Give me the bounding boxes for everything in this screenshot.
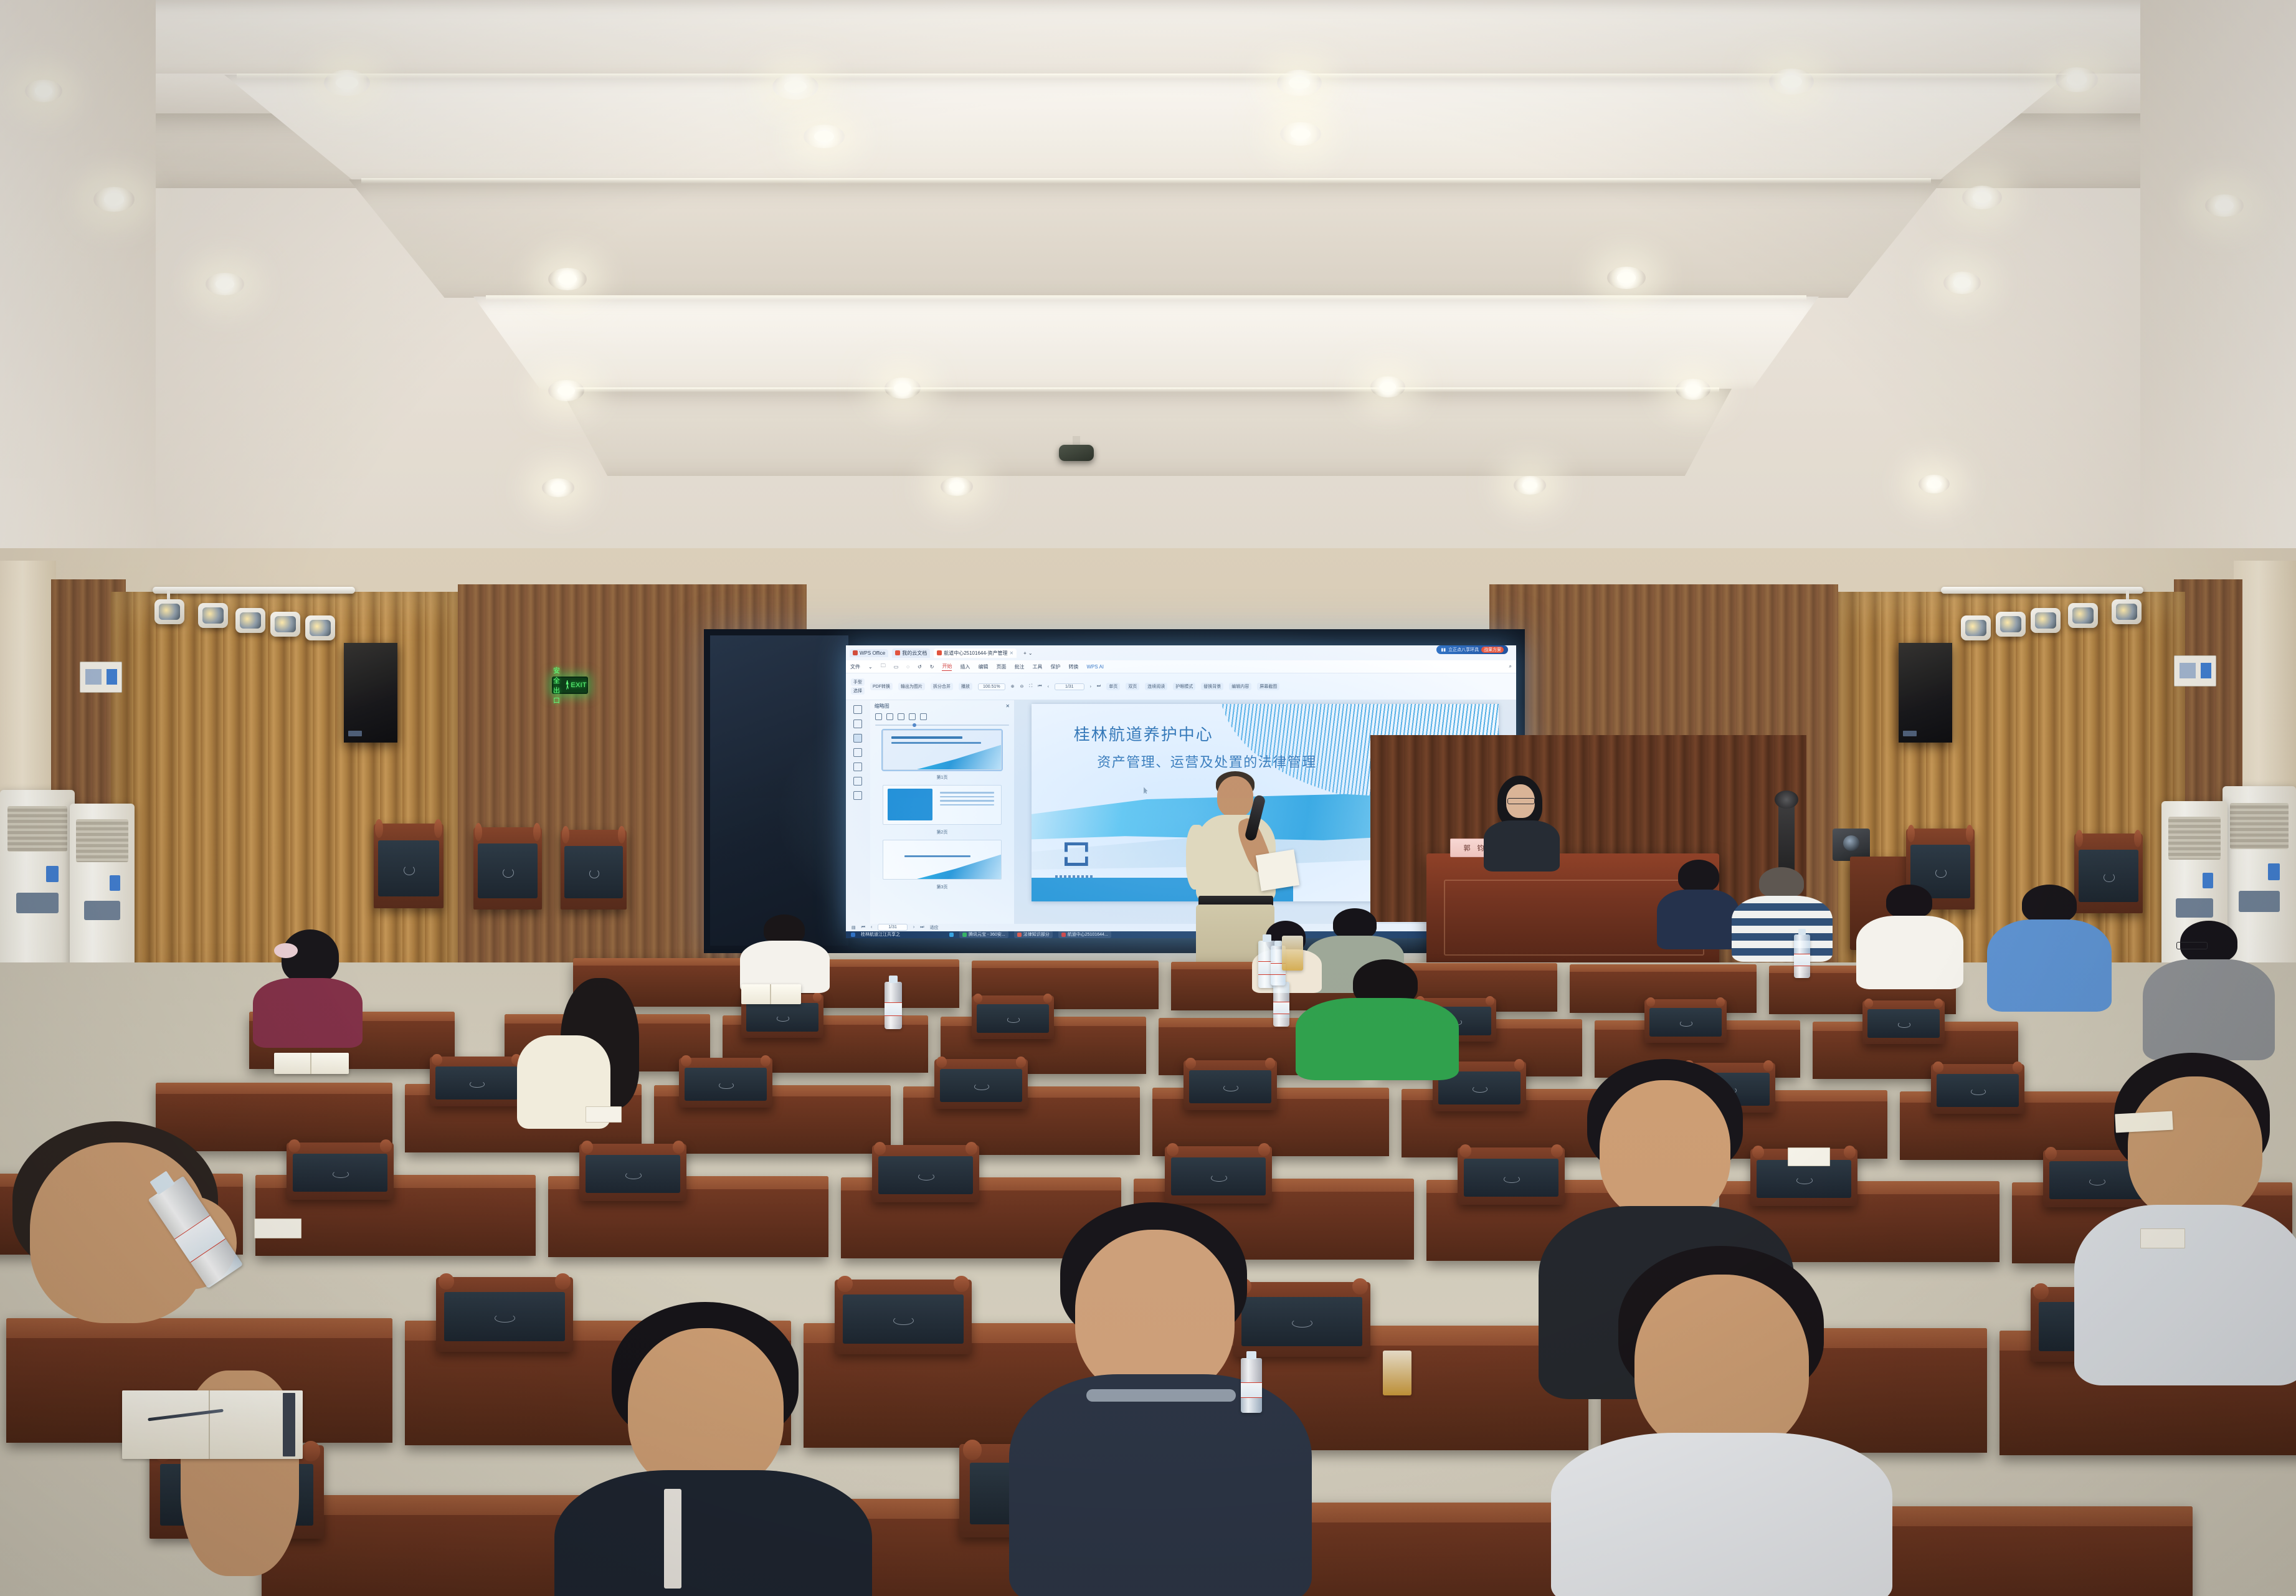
par-light xyxy=(2031,608,2061,633)
person-attendee-white-mid xyxy=(735,914,835,989)
head xyxy=(628,1328,784,1491)
print-icon[interactable]: ◌ xyxy=(906,664,909,670)
wps-menu-bar[interactable]: 文件 ⌄ 🗀 ▭ ◌ ↺ ↻ 开始 插入 编辑 页面 批注 工具 保护 转换 W… xyxy=(846,660,1516,673)
wps-logo-icon xyxy=(853,650,858,655)
ceiling-downlight xyxy=(25,80,62,102)
hair xyxy=(1678,860,1719,892)
single-page-button[interactable]: 单页 xyxy=(1106,683,1120,690)
wall-speaker-right xyxy=(1899,643,1952,743)
thumbnail-panel[interactable]: 缩略图 ✕ 第1页 第2页 第3页 xyxy=(870,700,1015,923)
paper-note xyxy=(2115,1111,2173,1133)
stage-light-bar-left xyxy=(153,587,355,594)
next-page-icon[interactable]: › xyxy=(913,925,914,929)
torso xyxy=(2074,1205,2296,1385)
promo-pill-badge: 战果方案 xyxy=(1481,647,1504,653)
par-light xyxy=(1996,612,2026,637)
ceiling-coffer-nest-3 xyxy=(473,297,1819,390)
ceiling-downlight xyxy=(324,70,370,96)
menu-item-insert[interactable]: 插入 xyxy=(960,663,970,670)
torso-polo-shirt xyxy=(1551,1433,1892,1596)
torso-polo-shirt xyxy=(2143,959,2275,1060)
split-merge-button[interactable]: 拆分合并 xyxy=(931,683,953,690)
chair-row-c xyxy=(934,1059,1028,1109)
tea-cup xyxy=(1282,936,1303,971)
person-attendee-blue-polo xyxy=(1987,885,2118,1009)
person-attendee-navy-r xyxy=(1657,860,1744,947)
prev-page-icon[interactable]: ‹ xyxy=(871,925,872,929)
rear-chair xyxy=(561,830,627,910)
fit-page-icon[interactable]: ⛶ xyxy=(1029,684,1032,689)
wps-tab-label: 我的云文档 xyxy=(902,650,927,657)
app-icon xyxy=(962,933,967,937)
thumbnail-caption: 第2页 xyxy=(870,829,1014,835)
chair-row-d xyxy=(872,1145,979,1202)
torso xyxy=(253,978,363,1048)
head xyxy=(1600,1080,1730,1220)
torso-polo-shirt xyxy=(1987,919,2112,1012)
pdf-convert-button[interactable]: PDF转换 xyxy=(870,683,893,690)
ceiling-coffer-nest-2 xyxy=(349,179,1943,298)
ceiling-downlight xyxy=(804,125,845,148)
hair xyxy=(1886,885,1932,918)
status-page-indicator[interactable]: 1/31 xyxy=(878,924,908,931)
ceiling-downlight xyxy=(1943,272,1981,294)
ceiling-downlight xyxy=(772,74,818,100)
torso xyxy=(1484,820,1560,872)
menu-item-start[interactable]: 开始 xyxy=(942,663,952,671)
zoom-out-icon[interactable]: ⊖ xyxy=(1020,684,1024,689)
wps-tab-active-document[interactable]: 航道中心25101644-资产管理 ✕ xyxy=(934,648,1017,658)
person-foreground-right-edge xyxy=(2074,1053,2296,1377)
menu-item-edit[interactable]: 编辑 xyxy=(978,663,988,670)
chevron-down-icon[interactable]: ⌄ xyxy=(868,664,873,670)
chair-row-c xyxy=(679,1058,772,1108)
chair-row-c xyxy=(430,1057,523,1106)
taskbar-item-wps[interactable]: 航道中心25101644... xyxy=(1058,931,1111,938)
ceiling-downlight xyxy=(1370,376,1405,397)
double-page-button[interactable]: 双页 xyxy=(1126,683,1139,690)
chevron-down-icon[interactable]: ⌄ xyxy=(1028,650,1033,656)
prev-page-icon[interactable]: ‹ xyxy=(1048,685,1049,689)
pdf-file-icon xyxy=(937,650,942,655)
notebook xyxy=(274,1053,349,1074)
edge-icon[interactable] xyxy=(949,933,954,937)
thumbnail-toolbar[interactable] xyxy=(870,712,1014,721)
outline-icon[interactable] xyxy=(853,705,862,714)
next-page-icon[interactable]: › xyxy=(1090,685,1091,689)
wps-ribbon[interactable]: 手型 选择 PDF转换 输出为图片 拆分合并 播放 100.51% ⊕ ⊖ ⛶ … xyxy=(846,673,1516,700)
select-tool-button[interactable]: 选择 xyxy=(851,687,865,695)
head xyxy=(2128,1076,2262,1220)
par-light xyxy=(235,608,265,633)
rear-chair xyxy=(374,824,444,908)
person-foreground-navy xyxy=(1009,1202,1321,1596)
open-icon[interactable]: 🗀 xyxy=(881,662,886,671)
open-notebook xyxy=(122,1390,303,1459)
thumbnail-caption: 第1页 xyxy=(870,774,1014,781)
extract-page-icon[interactable] xyxy=(898,713,904,720)
led-screen-dark-area xyxy=(710,635,848,946)
slide-subtitle: 资产管理、运营及处置的法律管理 xyxy=(1097,751,1317,771)
ceiling-downlight xyxy=(93,187,135,212)
rs-monogram-logo xyxy=(1065,842,1088,866)
menu-item-page[interactable]: 页面 xyxy=(996,663,1006,670)
menu-item-tools[interactable]: 工具 xyxy=(1032,663,1042,670)
torso xyxy=(554,1470,872,1596)
ceiling-downlight xyxy=(206,273,244,295)
person-foreground-darknavy xyxy=(554,1302,878,1596)
bar-chart-icon: ▮▮ xyxy=(1441,647,1446,652)
close-icon[interactable]: ✕ xyxy=(1009,650,1013,656)
eye-protect-button[interactable]: 护眼模式 xyxy=(1173,683,1195,690)
desk-placard xyxy=(254,1218,301,1238)
paper-script xyxy=(1256,850,1299,891)
running-man-icon xyxy=(566,680,569,690)
wall-control-panel-right xyxy=(2174,655,2216,686)
replace-background-button[interactable]: 替换背景 xyxy=(1201,683,1223,690)
rotate-right-icon[interactable] xyxy=(920,713,927,720)
desk-placard xyxy=(2140,1228,2185,1248)
thumbnail-panel-title: 缩略图 xyxy=(875,703,889,710)
play-button[interactable]: 播放 xyxy=(959,683,972,690)
thumbnail-icon[interactable] xyxy=(853,734,862,743)
water-bottle xyxy=(1241,1358,1262,1413)
screenshot-button[interactable]: 屏幕截图 xyxy=(1257,683,1279,690)
thumbnail-page-3[interactable] xyxy=(883,840,1002,880)
person-attendee-green xyxy=(1296,959,1464,1078)
promo-pill[interactable]: ▮▮ 立正点八享环具 战果方案 xyxy=(1436,645,1508,654)
hair xyxy=(1759,867,1804,898)
zoom-in-icon[interactable]: ⊕ xyxy=(1011,684,1015,689)
wps-tab-label: 航道中心25101644-资产管理 xyxy=(944,650,1007,657)
wall-speaker-left xyxy=(344,643,397,743)
chair-row-b xyxy=(1862,1000,1945,1044)
wps-status-bar[interactable]: ▤ ⏮ ‹ 1/31 › ⏭ 适应 101% − + xyxy=(846,924,1516,931)
ceiling-downlight xyxy=(1676,379,1710,400)
doc-icon xyxy=(1017,933,1022,937)
menu-item-convert[interactable]: 转换 xyxy=(1068,663,1078,670)
head xyxy=(1634,1275,1809,1454)
water-bottle xyxy=(1273,982,1289,1027)
glasses-icon xyxy=(1507,798,1535,804)
wps-tab-home[interactable]: WPS Office xyxy=(850,649,888,657)
taskbar-title: 桂林航道江江共享之 xyxy=(861,931,900,938)
stage-light-bar-right xyxy=(1941,587,2143,594)
exit-sign-cn: 安全出口 xyxy=(553,665,564,705)
par-light xyxy=(154,599,184,624)
redo-icon[interactable]: ↻ xyxy=(930,664,934,670)
person-attendee-grey-polo xyxy=(2143,921,2280,1058)
head xyxy=(1075,1230,1235,1397)
person-foreground-striped xyxy=(0,1121,324,1596)
glasses-icon xyxy=(2176,942,2208,949)
thumbnail-size-slider[interactable] xyxy=(875,724,1009,726)
undo-icon[interactable]: ↺ xyxy=(918,664,922,670)
hand-tool-button[interactable]: 手型 xyxy=(851,678,865,686)
continuous-read-button[interactable]: 连续阅读 xyxy=(1145,683,1167,690)
wps-side-rail[interactable] xyxy=(846,700,870,923)
par-light xyxy=(198,603,228,628)
person-attendee-striped xyxy=(1732,867,1838,961)
edit-content-button[interactable]: 编辑内容 xyxy=(1229,683,1251,690)
cove-light-2 xyxy=(361,178,1931,184)
last-page-icon[interactable]: ⏭ xyxy=(1097,684,1101,689)
fit-mode-label[interactable]: 适应 xyxy=(930,924,939,931)
person-foreground-white-polo xyxy=(1551,1246,1900,1596)
par-light xyxy=(270,612,300,637)
bookmark-icon[interactable] xyxy=(853,720,862,728)
menu-item-protect[interactable]: 保护 xyxy=(1050,663,1060,670)
promo-pill-text: 立正点八享环具 xyxy=(1448,647,1479,653)
collar-trim xyxy=(1086,1389,1236,1402)
chair-row-c xyxy=(1931,1064,2024,1114)
head xyxy=(1217,776,1253,817)
water-bottle xyxy=(885,982,902,1029)
hair-scrunchie xyxy=(274,943,298,958)
par-light xyxy=(1961,615,1991,640)
person-moderator xyxy=(1476,776,1570,863)
tea-cup xyxy=(1383,1351,1411,1395)
ceiling-downlight xyxy=(941,477,973,496)
zoom-level-field[interactable]: 100.51% xyxy=(978,683,1005,690)
signature-icon[interactable] xyxy=(853,777,862,786)
cove-light-3 xyxy=(486,295,1806,300)
ceiling-downlight xyxy=(548,380,584,401)
thumbnail-page-1[interactable] xyxy=(883,730,1002,770)
ceiling-downlight xyxy=(1962,186,2002,209)
par-light xyxy=(2068,603,2098,628)
windows-start-icon[interactable] xyxy=(851,933,855,937)
chair-row-front xyxy=(436,1277,573,1352)
ceiling-downlight xyxy=(1769,69,1814,95)
par-light xyxy=(2112,599,2142,624)
slide-title: 桂林航道养护中心 xyxy=(1074,722,1213,745)
torso xyxy=(1657,890,1739,949)
export-image-button[interactable]: 输出为图片 xyxy=(898,683,925,690)
torso-striped-polo xyxy=(1732,896,1833,962)
person-attendee-cream xyxy=(517,978,660,1128)
ceiling-downlight xyxy=(1280,122,1321,146)
taskbar-item-yuanbao[interactable]: 腾讯元宝 - 360安... xyxy=(959,931,1008,938)
person-attendee-white-r xyxy=(1856,885,1968,987)
ceiling-projector xyxy=(1059,436,1094,461)
thumbnail-caption: 第3页 xyxy=(870,884,1014,890)
wall-control-panel-left xyxy=(80,662,122,693)
hair xyxy=(1333,908,1377,939)
attachment-icon[interactable] xyxy=(853,762,862,771)
first-page-icon[interactable]: ⏮ xyxy=(861,925,865,930)
ceiling-downlight xyxy=(885,378,921,399)
ceiling-downlight xyxy=(1607,267,1646,289)
thumbnail-page-2[interactable] xyxy=(883,785,1002,825)
ceiling-side-left xyxy=(0,0,156,598)
arm-left xyxy=(1186,825,1207,890)
last-page-icon[interactable]: ⏭ xyxy=(920,925,924,930)
par-light xyxy=(305,615,335,640)
chair-row-c xyxy=(1184,1060,1277,1110)
ceiling-coffer-outer xyxy=(0,0,2296,75)
person-attendee-maroon xyxy=(249,929,368,1048)
cove-light-4 xyxy=(573,387,1719,392)
search-icon[interactable]: ⌕ xyxy=(1509,663,1512,670)
comment-icon[interactable] xyxy=(853,748,862,757)
first-page-icon[interactable]: ⏮ xyxy=(1038,684,1041,689)
lanyard xyxy=(664,1489,681,1589)
water-bottle xyxy=(1794,934,1810,978)
lecture-hall-photo: 安全出口 EXIT WPS Office 我的云文档 航道中心25101644-… xyxy=(0,0,2296,1596)
chair-row-b xyxy=(1644,999,1727,1043)
exit-sign-en: EXIT xyxy=(571,682,587,689)
wps-icon xyxy=(1061,933,1066,937)
rotate-left-icon[interactable] xyxy=(909,713,916,720)
menu-item-comment[interactable]: 批注 xyxy=(1014,663,1024,670)
chair-row-d xyxy=(1165,1146,1272,1204)
info-icon[interactable] xyxy=(853,791,862,800)
torso-polo-shirt xyxy=(1296,998,1459,1080)
chair-row-d xyxy=(579,1144,686,1201)
layout-icon[interactable] xyxy=(875,713,882,720)
wps-tab-cloud[interactable]: 我的云文档 xyxy=(892,648,930,658)
insert-page-icon[interactable] xyxy=(886,713,893,720)
torso-shirt xyxy=(1856,916,1963,989)
ceiling-downlight xyxy=(2056,67,2098,92)
new-tab-button[interactable]: + ⌄ xyxy=(1020,649,1035,657)
ceiling-downlight xyxy=(548,268,587,290)
ceiling-coffer-nest-4 xyxy=(561,389,1732,476)
close-icon[interactable]: ✕ xyxy=(1005,703,1010,709)
hair xyxy=(2022,885,2077,923)
menu-item-file[interactable]: 文件 xyxy=(850,663,860,670)
cloud-doc-icon xyxy=(895,650,900,655)
wps-tab-label: WPS Office xyxy=(860,650,885,656)
ceiling-downlight xyxy=(542,478,574,497)
sidebar-toggle-icon[interactable]: ▤ xyxy=(852,925,856,930)
rear-chair xyxy=(473,827,542,910)
save-icon[interactable]: ▭ xyxy=(894,664,899,670)
ceiling-downlight xyxy=(2205,194,2244,217)
menu-item-wps-ai[interactable]: WPS AI xyxy=(1086,664,1104,670)
taskbar-item-doc[interactable]: 法律知识部分 xyxy=(1014,931,1053,938)
wps-tab-strip[interactable]: WPS Office 我的云文档 航道中心25101644-资产管理 ✕ + ⌄… xyxy=(846,645,1516,660)
ceiling-downlight xyxy=(1514,476,1546,495)
exit-sign: 安全出口 EXIT xyxy=(552,677,588,694)
ceiling-side-right xyxy=(2140,0,2296,598)
desk-placard xyxy=(1788,1147,1830,1166)
notebook xyxy=(741,984,801,1004)
torso-polo-shirt xyxy=(1009,1374,1312,1596)
page-indicator-field[interactable]: 1/31 xyxy=(1055,683,1084,690)
mouse-cursor xyxy=(1144,787,1149,794)
ceiling-downlight xyxy=(1277,70,1322,96)
chair-row-b xyxy=(972,995,1054,1039)
ceiling-downlight xyxy=(1919,475,1950,493)
hair xyxy=(764,914,805,944)
windows-taskbar[interactable]: 桂林航道江江共享之 腾讯元宝 - 360安... 法律知识部分 航道中心2510… xyxy=(846,931,1516,938)
desk-placard xyxy=(586,1106,622,1123)
